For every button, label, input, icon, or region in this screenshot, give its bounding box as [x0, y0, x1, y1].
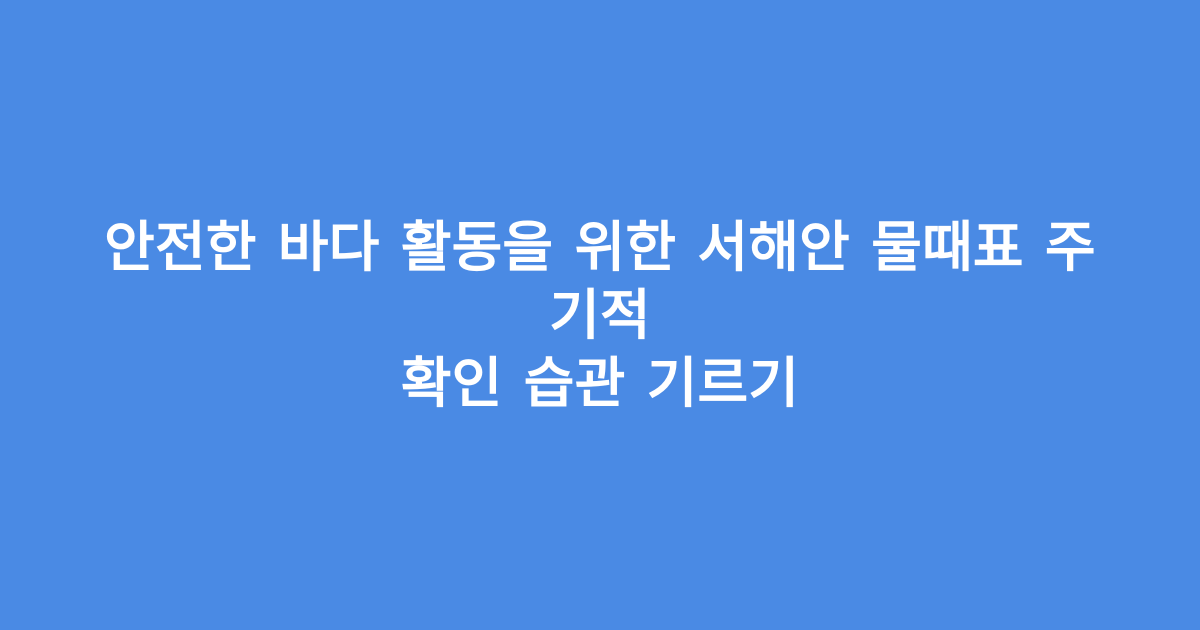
headline-block: 안전한 바다 활동을 위한 서해안 물때표 주기적 확인 습관 기르기: [80, 213, 1120, 417]
page-title: 안전한 바다 활동을 위한 서해안 물때표 주기적 확인 습관 기르기: [90, 213, 1110, 417]
banner-card: 안전한 바다 활동을 위한 서해안 물때표 주기적 확인 습관 기르기: [0, 0, 1200, 630]
